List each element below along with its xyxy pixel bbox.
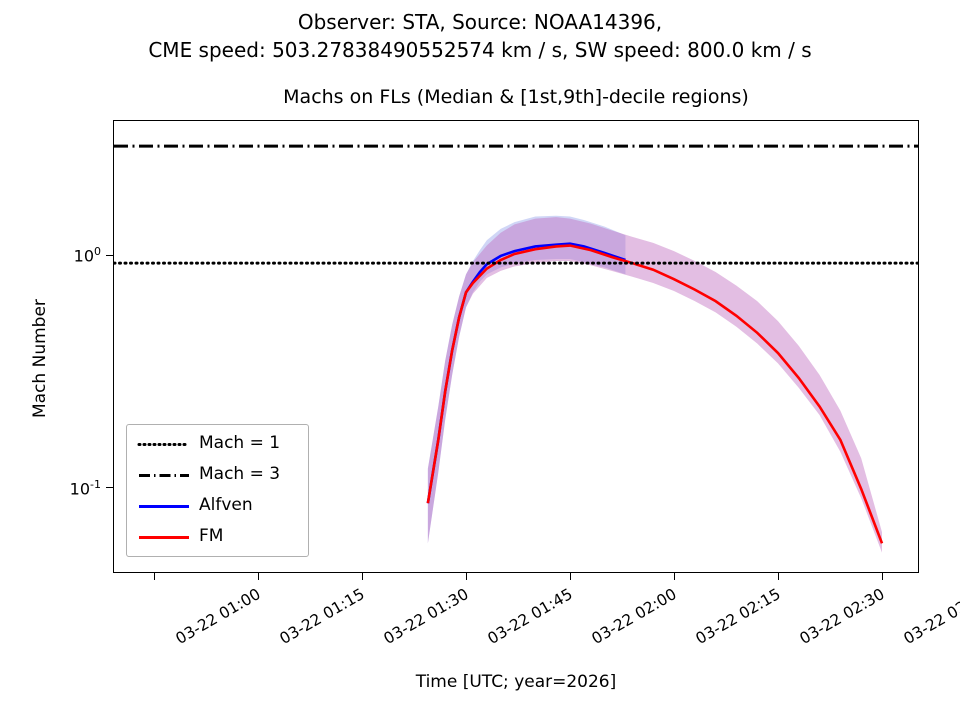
decile-band-fm [428,217,882,552]
legend-label: Mach = 3 [199,464,280,484]
legend[interactable]: Mach = 1 Mach = 3 Alfven FM [126,424,309,557]
y-tick-label: 100 [43,245,101,265]
x-tick-mark [154,573,155,580]
x-tick-label: 03-22 02:00 [589,585,680,648]
y-tick-label: 10-1 [43,478,101,498]
legend-sample-solid-blue [137,491,191,522]
figure: Observer: STA, Source: NOAA14396,CME spe… [0,0,960,720]
x-tick-label: 03-22 02:45 [901,585,960,648]
legend-item-mach3[interactable]: Mach = 3 [127,460,310,491]
x-tick-mark [466,573,467,580]
median-line-alfven [428,244,626,503]
x-tick-mark [362,573,363,580]
x-tick-mark [570,573,571,580]
legend-sample-dotted [137,429,191,460]
x-tick-label: 03-22 01:45 [485,585,576,648]
legend-sample-dashdot [137,460,191,491]
x-tick-label: 03-22 01:15 [277,585,368,648]
suptitle-line-1: Observer: STA, Source: NOAA14396, [298,10,662,34]
suptitle-line-2: CME speed: 503.27838490552574 km / s, SW… [148,38,811,62]
legend-sample-solid-red [137,522,191,553]
x-tick-label: 03-22 02:30 [797,585,888,648]
figure-suptitle: Observer: STA, Source: NOAA14396,CME spe… [0,8,960,64]
x-tick-label: 03-22 01:00 [173,585,264,648]
x-tick-label: 03-22 02:15 [693,585,784,648]
legend-label: Alfven [199,495,253,515]
axes-title: Machs on FLs (Median & [1st,9th]-decile … [113,86,919,108]
legend-label: Mach = 1 [199,433,280,453]
y-tick-mark [106,255,113,256]
legend-item-mach1[interactable]: Mach = 1 [127,429,310,460]
legend-label: FM [199,526,223,546]
x-tick-mark [778,573,779,580]
legend-item-alfven[interactable]: Alfven [127,491,310,522]
y-axis-label: Mach Number [30,299,50,418]
x-tick-mark [882,573,883,580]
y-tick-mark [106,487,113,488]
x-tick-mark [258,573,259,580]
legend-item-fm[interactable]: FM [127,522,310,553]
x-axis-label: Time [UTC; year=2026] [113,672,919,692]
decile-bands [428,216,882,553]
x-tick-label: 03-22 01:30 [381,585,472,648]
x-tick-mark [674,573,675,580]
